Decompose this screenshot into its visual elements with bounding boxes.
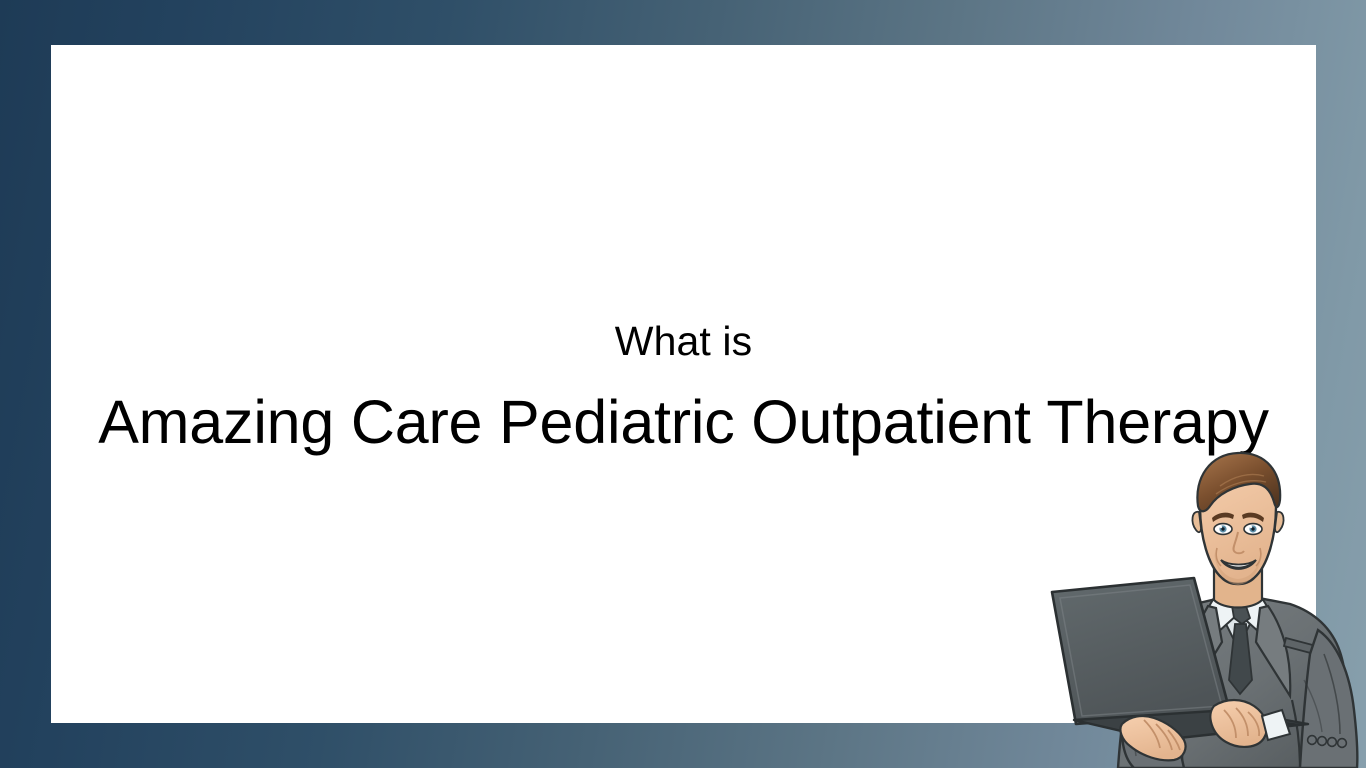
slide-content-card: What is Amazing Care Pediatric Outpatien… <box>51 45 1316 723</box>
slide-title: Amazing Care Pediatric Outpatient Therap… <box>51 385 1316 459</box>
slide-canvas: What is Amazing Care Pediatric Outpatien… <box>0 0 1366 768</box>
slide-subtitle: What is <box>51 315 1316 367</box>
